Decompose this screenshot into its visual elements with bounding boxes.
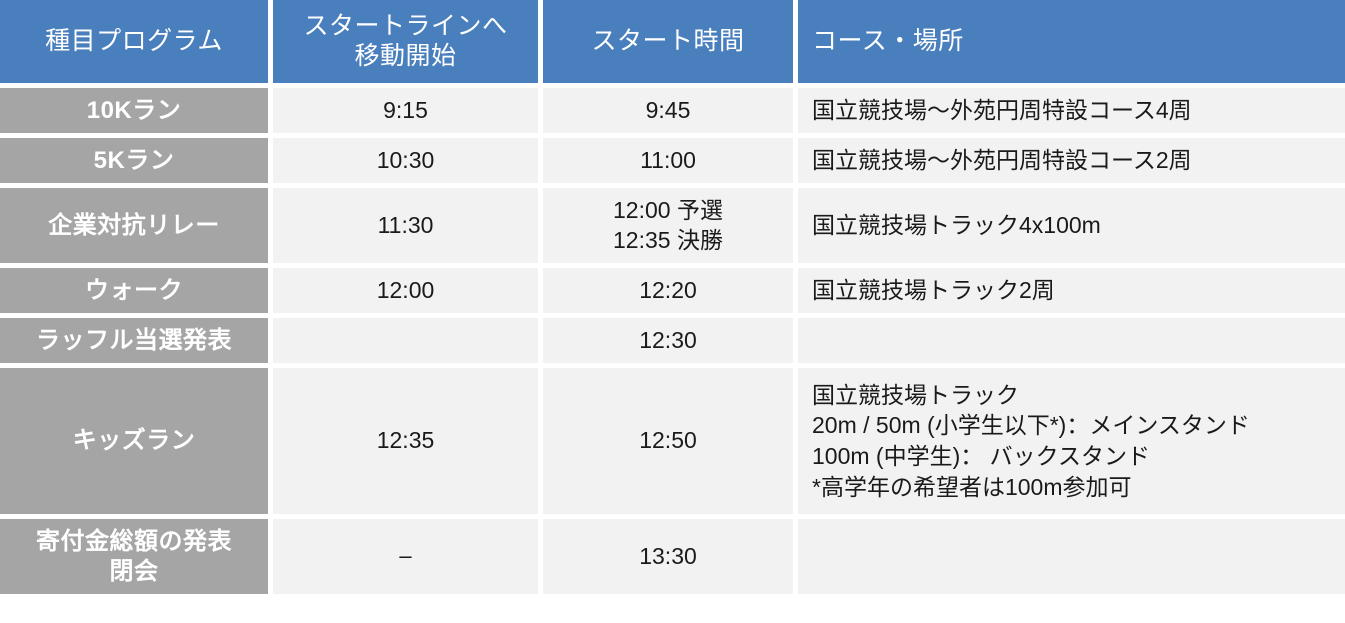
- table-row: 企業対抗リレー 11:30 12:00 予選 12:35 決勝 国立競技場トラッ…: [0, 188, 1345, 263]
- cell-program-line1: 寄付金総額の発表: [0, 527, 268, 556]
- table-header-row: 種目プログラム スタートラインへ 移動開始 スタート時間 コース・場所: [0, 0, 1345, 83]
- cell-move-start: 12:00: [273, 268, 538, 313]
- cell-start-time: 12:00 予選 12:35 決勝: [543, 188, 793, 263]
- cell-move-start: 10:30: [273, 138, 538, 183]
- cell-course-line: *高学年の希望者は100m参加可: [812, 472, 1345, 503]
- cell-start-time-line: 12:50: [543, 426, 793, 456]
- cell-move-start-dash: –: [273, 542, 538, 571]
- cell-course: 国立競技場トラック2周: [798, 268, 1345, 313]
- cell-start-time-line: 11:00: [543, 146, 793, 176]
- cell-program: ラッフル当選発表: [0, 318, 268, 363]
- cell-program-line2: 閉会: [0, 557, 268, 586]
- event-schedule-table: 種目プログラム スタートラインへ 移動開始 スタート時間 コース・場所 10Kラ…: [0, 0, 1345, 599]
- table-row: ウォーク 12:00 12:20 国立競技場トラック2周: [0, 268, 1345, 313]
- cell-course: [798, 318, 1345, 363]
- cell-program: キッズラン: [0, 368, 268, 514]
- column-header-start-time: スタート時間: [543, 0, 793, 83]
- table-row: 10Kラン 9:15 9:45 国立競技場〜外苑円周特設コース4周: [0, 88, 1345, 133]
- cell-start-time-line: 12:00 予選: [543, 196, 793, 226]
- table-row: ラッフル当選発表 12:30: [0, 318, 1345, 363]
- cell-start-time: 13:30: [543, 519, 793, 594]
- cell-program: ウォーク: [0, 268, 268, 313]
- column-header-move-start-line1: スタートラインへ: [273, 12, 538, 42]
- cell-course-line: 国立競技場トラック4x100m: [812, 210, 1345, 241]
- cell-program: 寄付金総額の発表 閉会: [0, 519, 268, 594]
- cell-start-time: 11:00: [543, 138, 793, 183]
- table-row: 寄付金総額の発表 閉会 – 13:30: [0, 519, 1345, 594]
- cell-course: 国立競技場〜外苑円周特設コース2周: [798, 138, 1345, 183]
- table-body: 10Kラン 9:15 9:45 国立競技場〜外苑円周特設コース4周 5Kラン 1…: [0, 88, 1345, 594]
- cell-course-line: 100m (中学生)： バックスタンド: [812, 441, 1345, 472]
- column-header-course: コース・場所: [798, 0, 1345, 83]
- cell-move-start: 11:30: [273, 188, 538, 263]
- cell-start-time: 12:20: [543, 268, 793, 313]
- cell-program: 5Kラン: [0, 138, 268, 183]
- cell-course: 国立競技場トラック 20m / 50m (小学生以下*)：メインスタンド 100…: [798, 368, 1345, 514]
- cell-move-start: 12:35: [273, 368, 538, 514]
- cell-start-time-line: 12:30: [543, 326, 793, 356]
- table-row: キッズラン 12:35 12:50 国立競技場トラック 20m / 50m (小…: [0, 368, 1345, 514]
- table-row: 5Kラン 10:30 11:00 国立競技場〜外苑円周特設コース2周: [0, 138, 1345, 183]
- cell-course: 国立競技場〜外苑円周特設コース4周: [798, 88, 1345, 133]
- cell-course-line: 国立競技場トラック: [812, 380, 1345, 411]
- cell-start-time: 12:50: [543, 368, 793, 514]
- cell-course: 国立競技場トラック4x100m: [798, 188, 1345, 263]
- cell-course-line: 20m / 50m (小学生以下*)：メインスタンド: [812, 410, 1345, 441]
- cell-course: [798, 519, 1345, 594]
- cell-start-time-line: 9:45: [543, 96, 793, 126]
- column-header-move-start-line2: 移動開始: [273, 42, 538, 72]
- cell-start-time: 12:30: [543, 318, 793, 363]
- column-header-move-start: スタートラインへ 移動開始: [273, 0, 538, 83]
- column-header-program: 種目プログラム: [0, 0, 268, 83]
- cell-start-time-line: 12:20: [543, 276, 793, 306]
- cell-start-time-line: 12:35 決勝: [543, 226, 793, 256]
- cell-program: 10Kラン: [0, 88, 268, 133]
- cell-course-line: 国立競技場〜外苑円周特設コース2周: [812, 145, 1345, 176]
- cell-program: 企業対抗リレー: [0, 188, 268, 263]
- cell-course-line: 国立競技場〜外苑円周特設コース4周: [812, 95, 1345, 126]
- cell-course-line: 国立競技場トラック2周: [812, 275, 1345, 306]
- cell-move-start: [273, 318, 538, 363]
- cell-start-time: 9:45: [543, 88, 793, 133]
- cell-start-time-line: 13:30: [543, 542, 793, 572]
- cell-move-start: 9:15: [273, 88, 538, 133]
- cell-move-start: –: [273, 519, 538, 594]
